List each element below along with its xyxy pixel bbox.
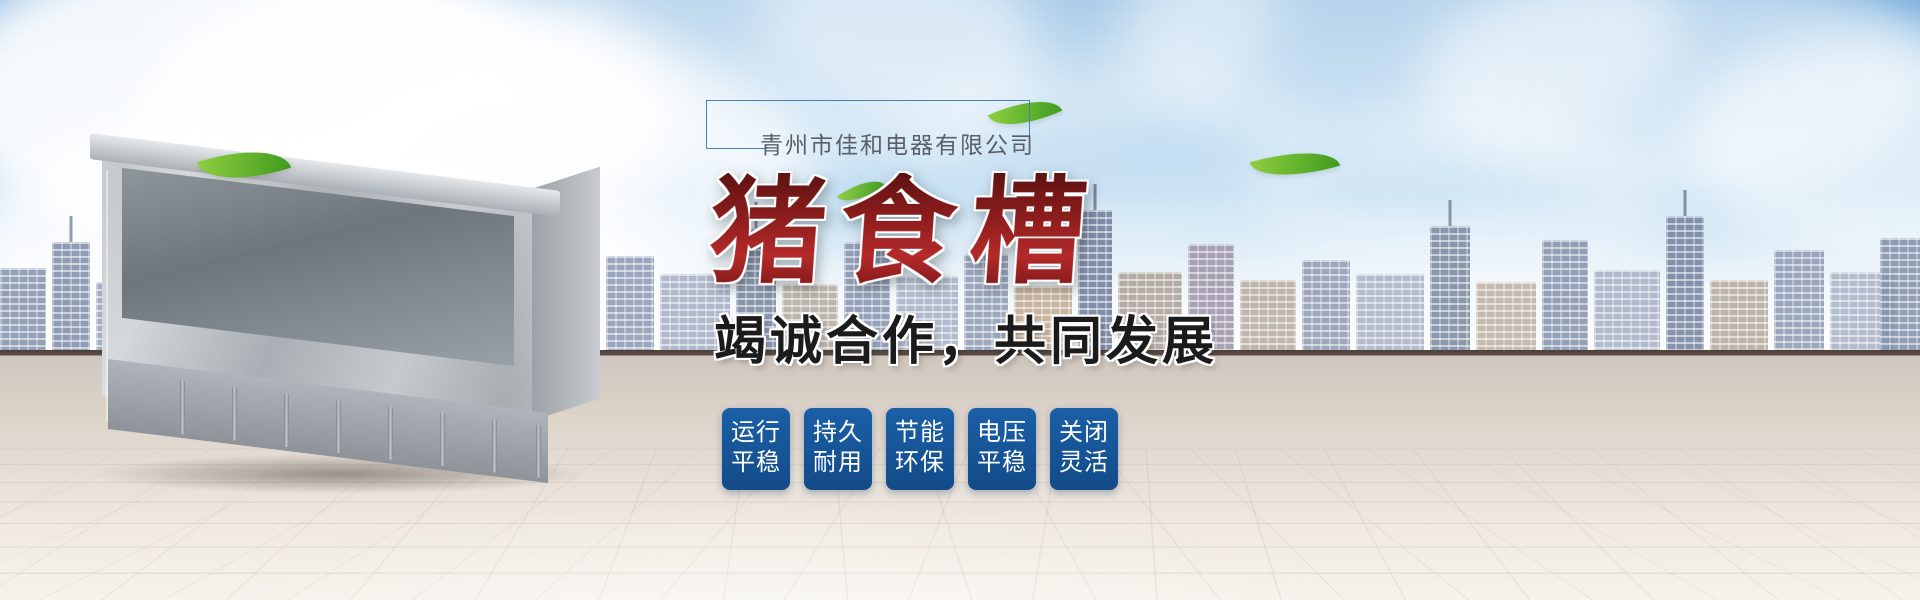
promo-banner: 青州市佳和电器有限公司 猪食槽 竭诚合作，共同发展 运行 平稳 持久 耐用 节能… — [0, 0, 1920, 600]
feature-badge[interactable]: 运行 平稳 — [722, 408, 790, 490]
badge-line-2: 平稳 — [722, 448, 790, 478]
banner-copy-block: 青州市佳和电器有限公司 猪食槽 竭诚合作，共同发展 运行 平稳 持久 耐用 节能… — [700, 100, 1400, 490]
badge-line-1: 运行 — [722, 418, 790, 448]
badge-line-1: 节能 — [886, 418, 954, 448]
badge-line-1: 持久 — [804, 418, 872, 448]
product-image-pig-trough — [60, 140, 620, 480]
badge-line-1: 电压 — [968, 418, 1036, 448]
badge-line-2: 环保 — [886, 448, 954, 478]
banner-subtitle: 竭诚合作，共同发展 — [714, 299, 1400, 374]
trough-body — [60, 140, 620, 480]
badge-line-2: 灵活 — [1050, 448, 1118, 478]
company-name: 青州市佳和电器有限公司 — [760, 126, 1035, 160]
badge-line-2: 耐用 — [804, 448, 872, 478]
badge-line-1: 关闭 — [1050, 418, 1118, 448]
feature-badge[interactable]: 关闭 灵活 — [1050, 408, 1118, 490]
feature-badge[interactable]: 电压 平稳 — [968, 408, 1036, 490]
badge-line-2: 平稳 — [968, 448, 1036, 478]
feature-badge[interactable]: 节能 环保 — [886, 408, 954, 490]
feature-badge-list: 运行 平稳 持久 耐用 节能 环保 电压 平稳 关闭 灵活 — [722, 408, 1400, 490]
page-title: 猪食槽 — [706, 173, 1404, 291]
feature-badge[interactable]: 持久 耐用 — [804, 408, 872, 490]
